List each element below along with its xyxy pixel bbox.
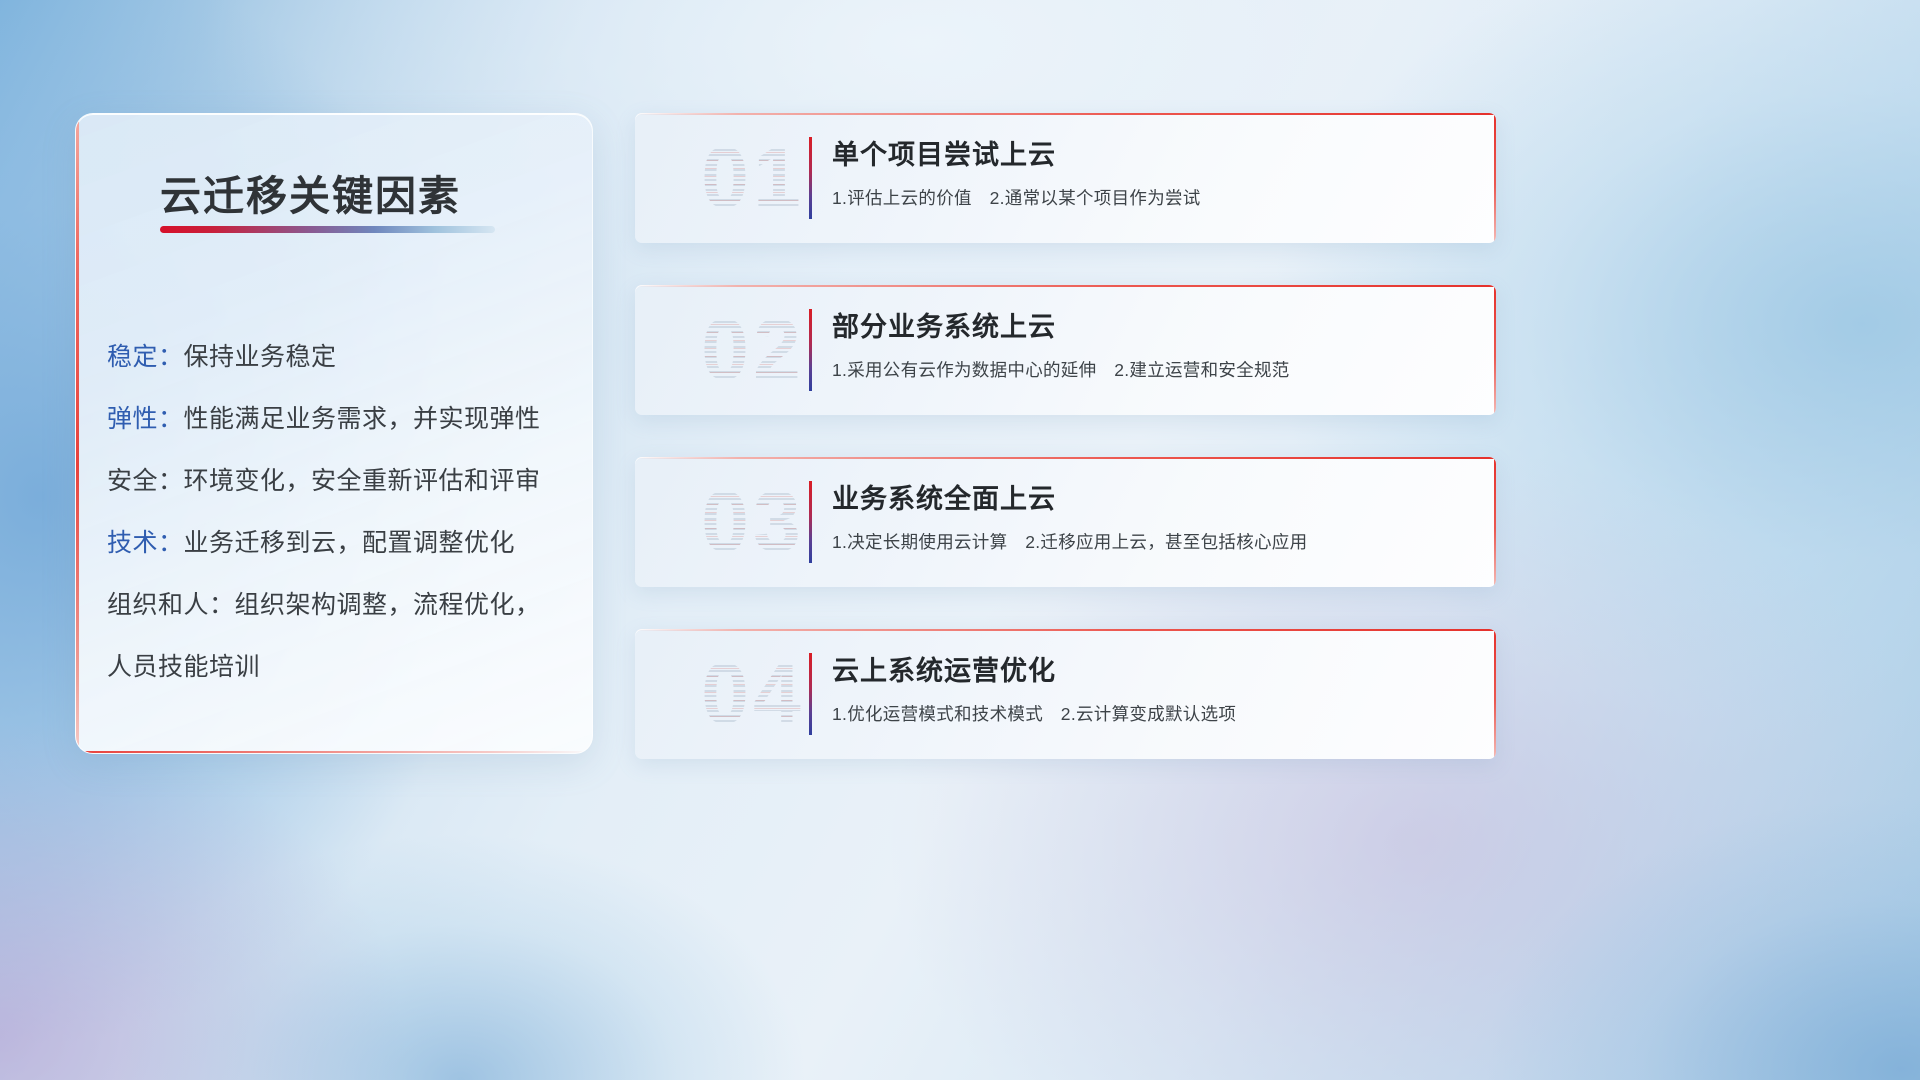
card-subtitle: 1.评估上云的价值 2.通常以某个项目作为尝试	[832, 185, 1466, 211]
card-divider	[809, 309, 812, 391]
title-underline	[160, 226, 495, 233]
list-item-text: 业务迁移到云，配置调整优化	[184, 529, 516, 557]
slide-stage: 云迁移关键因素 稳定：保持业务稳定弹性：性能满足业务需求，并实现弹性安全：环境变…	[0, 0, 1920, 1080]
card-title: 云上系统运营优化	[832, 651, 1466, 691]
list-item-key: 安全：	[107, 467, 184, 495]
stage-card[interactable]: 0303业务系统全面上云1.决定长期使用云计算 2.迁移应用上云，甚至包括核心应…	[635, 457, 1496, 587]
card-body: 业务系统全面上云1.决定长期使用云计算 2.迁移应用上云，甚至包括核心应用	[832, 479, 1466, 555]
list-item-text: 组织架构调整，流程优化，	[235, 591, 541, 619]
stage-number-accent: 04	[679, 645, 827, 743]
list-item: 弹性：性能满足业务需求，并实现弹性	[107, 388, 572, 450]
card-subtitle: 1.采用公有云作为数据中心的延伸 2.建立运营和安全规范	[832, 357, 1466, 383]
card-subtitle: 1.决定长期使用云计算 2.迁移应用上云，甚至包括核心应用	[832, 529, 1466, 555]
card-divider	[809, 653, 812, 735]
list-item: 技术：业务迁移到云，配置调整优化	[107, 512, 572, 574]
list-item: 人员技能培训	[107, 636, 572, 698]
card-title: 单个项目尝试上云	[832, 135, 1466, 175]
card-divider	[809, 137, 812, 219]
list-item-text: 人员技能培训	[107, 653, 260, 681]
card-body: 部分业务系统上云1.采用公有云作为数据中心的延伸 2.建立运营和安全规范	[832, 307, 1466, 383]
list-item: 稳定：保持业务稳定	[107, 326, 572, 388]
stage-card[interactable]: 0404云上系统运营优化1.优化运营模式和技术模式 2.云计算变成默认选项	[635, 629, 1496, 759]
list-item-text: 性能满足业务需求，并实现弹性	[184, 405, 541, 433]
stage-number-accent: 03	[679, 473, 827, 571]
page-title: 云迁移关键因素	[160, 162, 461, 222]
card-body: 云上系统运营优化1.优化运营模式和技术模式 2.云计算变成默认选项	[832, 651, 1466, 727]
card-divider	[809, 481, 812, 563]
card-title: 部分业务系统上云	[832, 307, 1466, 347]
stage-number-accent: 01	[679, 129, 827, 227]
key-factors-list: 稳定：保持业务稳定弹性：性能满足业务需求，并实现弹性安全：环境变化，安全重新评估…	[107, 326, 572, 698]
list-item-key: 弹性：	[107, 405, 184, 433]
list-item-text: 保持业务稳定	[184, 343, 337, 371]
card-subtitle: 1.优化运营模式和技术模式 2.云计算变成默认选项	[832, 701, 1466, 727]
list-item: 安全：环境变化，安全重新评估和评审	[107, 450, 572, 512]
list-item-text: 环境变化，安全重新评估和评审	[184, 467, 541, 495]
list-item: 组织和人：组织架构调整，流程优化，	[107, 574, 572, 636]
stage-card[interactable]: 0101单个项目尝试上云1.评估上云的价值 2.通常以某个项目作为尝试	[635, 113, 1496, 243]
list-item-key: 组织和人：	[107, 591, 235, 619]
list-item-key: 稳定：	[107, 343, 184, 371]
card-body: 单个项目尝试上云1.评估上云的价值 2.通常以某个项目作为尝试	[832, 135, 1466, 211]
card-title: 业务系统全面上云	[832, 479, 1466, 519]
key-factors-panel: 云迁移关键因素 稳定：保持业务稳定弹性：性能满足业务需求，并实现弹性安全：环境变…	[75, 113, 593, 754]
stage-number-accent: 02	[679, 301, 827, 399]
stage-card[interactable]: 0202部分业务系统上云1.采用公有云作为数据中心的延伸 2.建立运营和安全规范	[635, 285, 1496, 415]
list-item-key: 技术：	[107, 529, 184, 557]
